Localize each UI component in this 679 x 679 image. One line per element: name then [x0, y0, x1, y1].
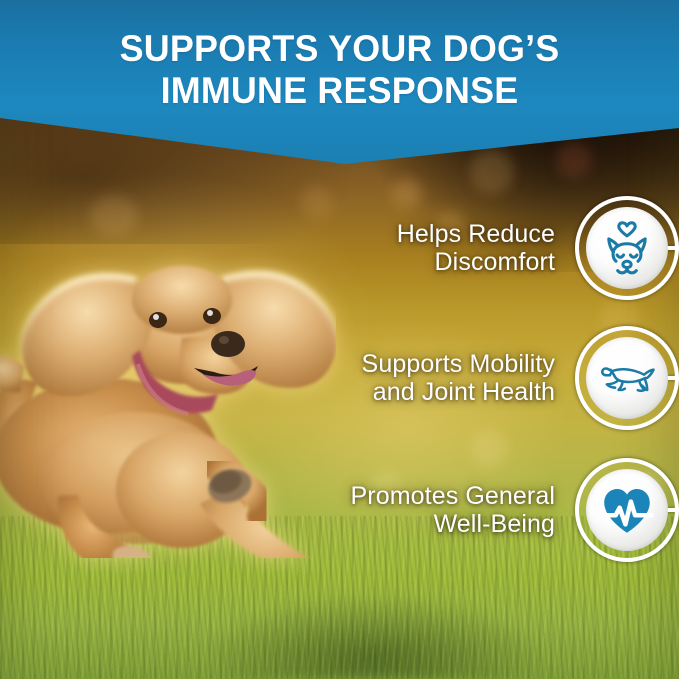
- benefit-badge-supports-mobility: [575, 326, 679, 430]
- benefits-list: Helps Reduce Discomfort: [0, 0, 679, 679]
- benefit-label: Supports Mobility and Joint Health: [362, 350, 575, 407]
- benefit-row-promotes-general-well-being: Promotes General Well-Being: [351, 458, 679, 562]
- benefit-row-helps-reduce-discomfort: Helps Reduce Discomfort: [397, 196, 679, 300]
- benefit-label: Promotes General Well-Being: [351, 482, 575, 539]
- badge-ring: [575, 196, 679, 300]
- benefit-row-supports-mobility-and-joint-health: Supports Mobility and Joint Health: [362, 326, 679, 430]
- benefit-label: Helps Reduce Discomfort: [397, 220, 575, 277]
- product-benefits-banner: SUPPORTS YOUR DOG’S IMMUNE RESPONSE Help…: [0, 0, 679, 679]
- benefit-badge-helps-reduce-discomfort: [575, 196, 679, 300]
- badge-ring: [575, 458, 679, 562]
- badge-ring: [575, 326, 679, 430]
- benefit-badge-promotes-well-being: [575, 458, 679, 562]
